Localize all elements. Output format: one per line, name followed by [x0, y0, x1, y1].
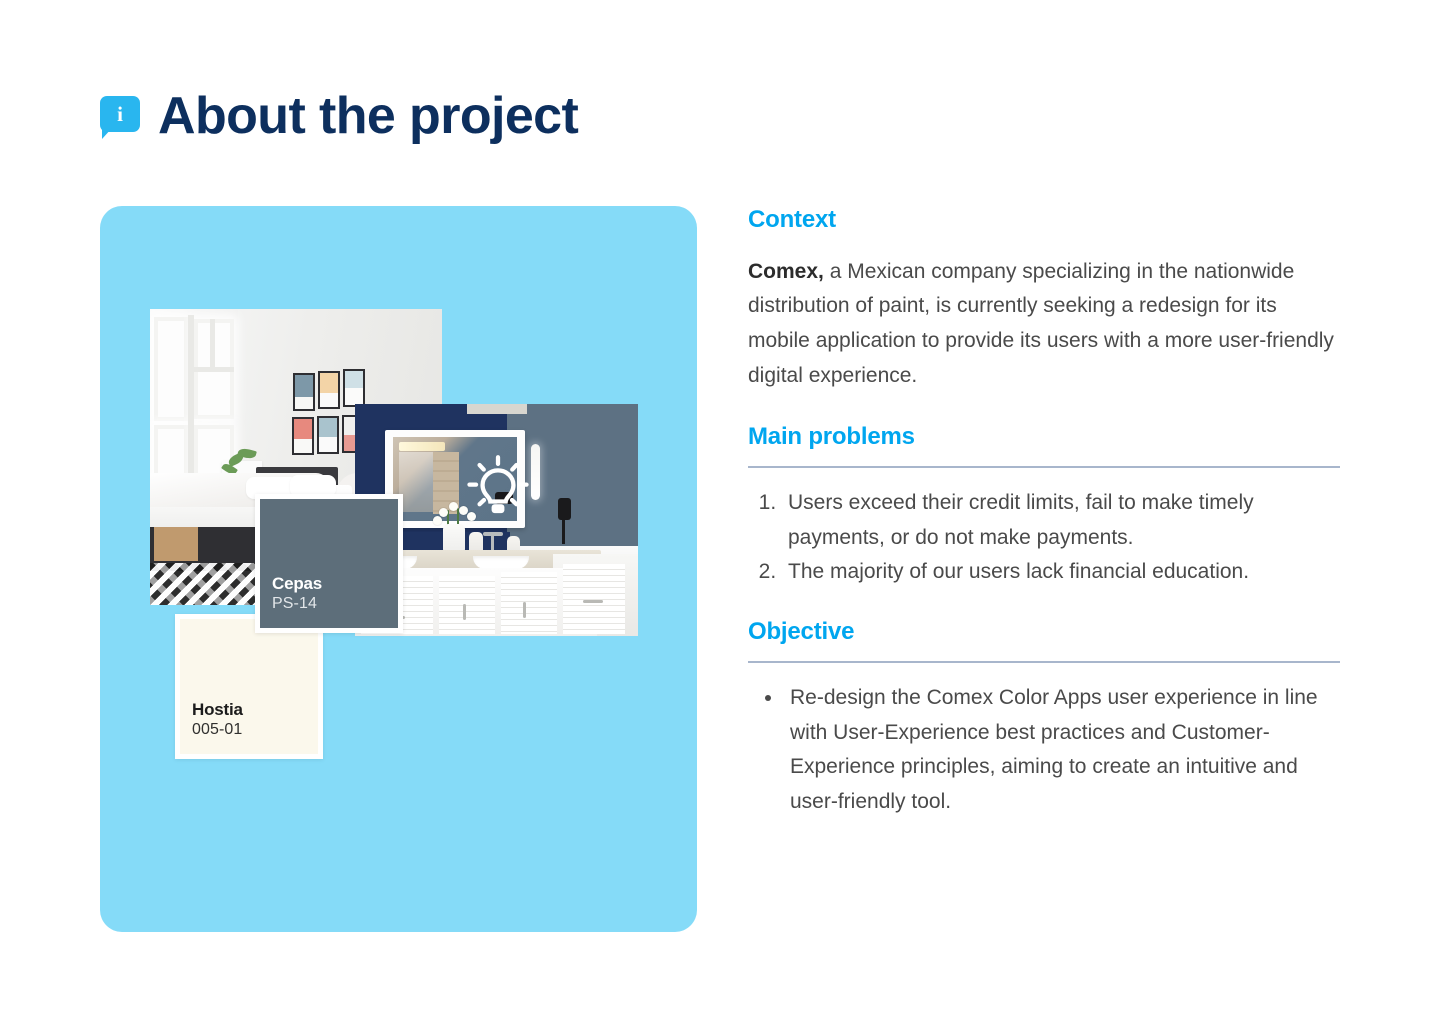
bedroom-framed-art	[292, 417, 314, 455]
bedroom-framed-art	[293, 373, 315, 411]
list-item: Re-design the Comex Color Apps user expe…	[784, 681, 1342, 820]
bathroom-ceiling	[467, 404, 527, 414]
section-heading-main-problems: Main problems	[748, 423, 1342, 452]
context-lead: Comex,	[748, 260, 824, 283]
info-bubble-letter: i	[100, 96, 140, 132]
bathroom-cabinet-door	[501, 572, 557, 634]
bathroom-cabinet-drawer	[563, 564, 625, 634]
section-heading-context: Context	[748, 206, 1342, 235]
info-speech-bubble-icon: i	[100, 96, 140, 136]
main-problems-list: Users exceed their credit limits, fail t…	[748, 486, 1342, 590]
bedroom-window-mullion	[210, 319, 215, 369]
color-swatch-cepas: Cepas PS-14	[255, 494, 403, 633]
swatch-label: Hostia 005-01	[192, 699, 243, 740]
bedroom-bed-base	[154, 523, 198, 561]
section-context: Context Comex, a Mexican company special…	[748, 206, 1342, 393]
context-paragraph: Comex, a Mexican company specializing in…	[748, 255, 1342, 394]
bathroom-hairdryer	[558, 498, 571, 520]
list-item: Users exceed their credit limits, fail t…	[782, 486, 1342, 555]
visual-showcase-card: Hostia 005-01 Cepas PS-14	[100, 206, 697, 932]
swatch-code: 005-01	[192, 720, 243, 740]
bathroom-mirror-reflection-shower	[399, 452, 433, 512]
section-main-problems: Main problems Users exceed their credit …	[748, 423, 1342, 590]
lightbulb-icon	[460, 449, 536, 525]
swatch-label: Cepas PS-14	[272, 573, 322, 614]
section-divider	[748, 661, 1340, 663]
bathroom-cabinet-handle	[583, 600, 603, 603]
page-title: About the project	[158, 90, 578, 142]
list-item: The majority of our users lack financial…	[782, 555, 1342, 590]
page-header: i About the project	[100, 90, 578, 142]
bathroom-cabinet-handle	[463, 604, 466, 620]
bathroom-cabinet-door	[439, 576, 495, 634]
bathroom-hairdryer-cord	[562, 518, 565, 544]
swatch-code: PS-14	[272, 594, 322, 614]
bathroom-faucet-spout	[483, 532, 503, 536]
bathroom-mirror-reflection-light	[399, 442, 445, 451]
swatch-name: Cepas	[272, 573, 322, 594]
context-body: a Mexican company specializing in the na…	[748, 260, 1334, 387]
content-column: Context Comex, a Mexican company special…	[748, 206, 1342, 847]
section-divider	[748, 466, 1340, 468]
bedroom-framed-art	[343, 369, 365, 407]
section-heading-objective: Objective	[748, 618, 1342, 647]
bedroom-framed-art	[317, 416, 339, 454]
bedroom-framed-art	[318, 371, 340, 409]
slide-about-the-project: i About the project	[0, 0, 1440, 1024]
color-swatch-hostia: Hostia 005-01	[175, 614, 323, 759]
bathroom-cabinet-handle	[523, 602, 526, 618]
swatch-name: Hostia	[192, 699, 243, 720]
bedroom-window-pane	[154, 317, 188, 421]
section-objective: Objective Re-design the Comex Color Apps…	[748, 618, 1342, 819]
objective-list: Re-design the Comex Color Apps user expe…	[748, 681, 1342, 820]
